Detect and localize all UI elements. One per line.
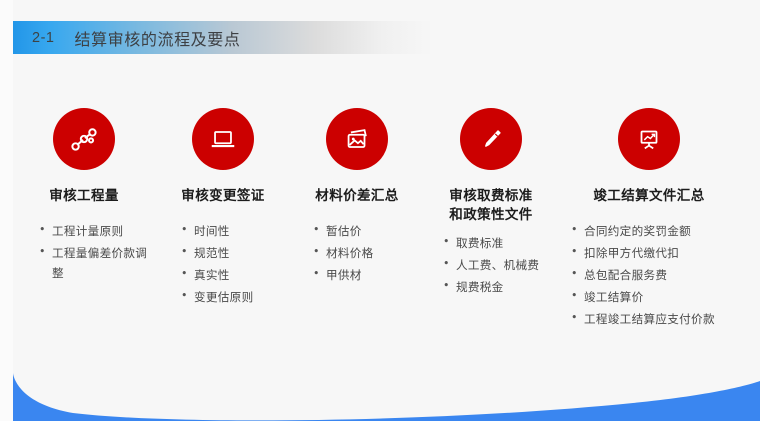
column-material-price-diff: 材料价差汇总 暂估价 材料价格 甲供材 [291,108,423,288]
icon-circle-4 [460,108,522,170]
column-heading-3: 材料价差汇总 [291,187,423,206]
content-columns: 审核工程量 工程计量原则 工程量偏差价款调整 审核变更签证 时间性 [13,108,760,388]
column-audit-change-order: 审核变更签证 时间性 规范性 真实性 变更估原则 [155,108,291,310]
column-list-2: 时间性 规范性 真实性 变更估原则 [181,222,286,308]
list-item: 合同约定的奖罚金额 [571,222,731,242]
pen-icon [476,124,506,154]
presentation-chart-icon [634,124,664,154]
column-heading-5: 竣工结算文件汇总 [559,187,739,206]
slide-title-text: 结算审核的流程及要点 [74,26,240,50]
slide-title-number: 2-1 [32,30,54,46]
column-list-1: 工程计量原则 工程量偏差价款调整 [39,222,149,284]
list-item: 取费标准 [443,234,558,254]
list-item: 甲供材 [313,266,418,286]
bottom-wave-decoration [13,373,760,421]
column-heading-4-line2: 和政策性文件 [423,206,559,225]
icon-circle-wrap-3 [291,108,423,170]
laptop-icon [208,124,238,154]
list-item: 人工费、机械费 [443,256,558,276]
list-item: 变更估原则 [181,288,286,308]
icon-circle-2 [192,108,254,170]
molecule-icon [69,124,99,154]
photos-icon [342,124,372,154]
icon-circle-wrap-5 [559,108,739,170]
wave-shape-icon [13,373,760,421]
list-item: 总包配合服务费 [571,266,731,286]
slide-title-bar: 2-1 结算审核的流程及要点 [13,21,433,54]
icon-circle-1 [53,108,115,170]
list-item: 工程竣工结算应支付价款 [571,310,731,330]
column-audit-quantity: 审核工程量 工程计量原则 工程量偏差价款调整 [13,108,155,286]
icon-circle-wrap-2 [155,108,291,170]
column-heading-4-line1: 审核取费标准 [423,187,559,206]
list-item: 规范性 [181,244,286,264]
column-heading-1: 审核工程量 [13,187,155,206]
column-heading-4: 审核取费标准 和政策性文件 [423,187,559,224]
column-list-3: 暂估价 材料价格 甲供材 [313,222,418,286]
list-item: 时间性 [181,222,286,242]
icon-circle-wrap-4 [423,108,559,170]
left-gutter [0,0,13,421]
column-final-settlement-docs: 竣工结算文件汇总 合同约定的奖罚金额 扣除甲方代缴代扣 总包配合服务费 竣工结算… [559,108,739,332]
column-fee-standard: 审核取费标准 和政策性文件 取费标准 人工费、机械费 规费税金 [423,108,559,300]
list-item: 材料价格 [313,244,418,264]
icon-circle-3 [326,108,388,170]
list-item: 扣除甲方代缴代扣 [571,244,731,264]
list-item: 规费税金 [443,278,558,298]
list-item: 工程计量原则 [39,222,149,242]
column-list-5: 合同约定的奖罚金额 扣除甲方代缴代扣 总包配合服务费 竣工结算价 工程竣工结算应… [571,222,731,330]
column-heading-2: 审核变更签证 [155,187,291,206]
column-list-4: 取费标准 人工费、机械费 规费税金 [443,234,558,298]
list-item: 工程量偏差价款调整 [39,244,149,284]
icon-circle-wrap-1 [13,108,155,170]
icon-circle-5 [618,108,680,170]
slide-canvas: 2-1 结算审核的流程及要点 审核工程量 工 [0,0,760,421]
list-item: 竣工结算价 [571,288,731,308]
list-item: 暂估价 [313,222,418,242]
list-item: 真实性 [181,266,286,286]
